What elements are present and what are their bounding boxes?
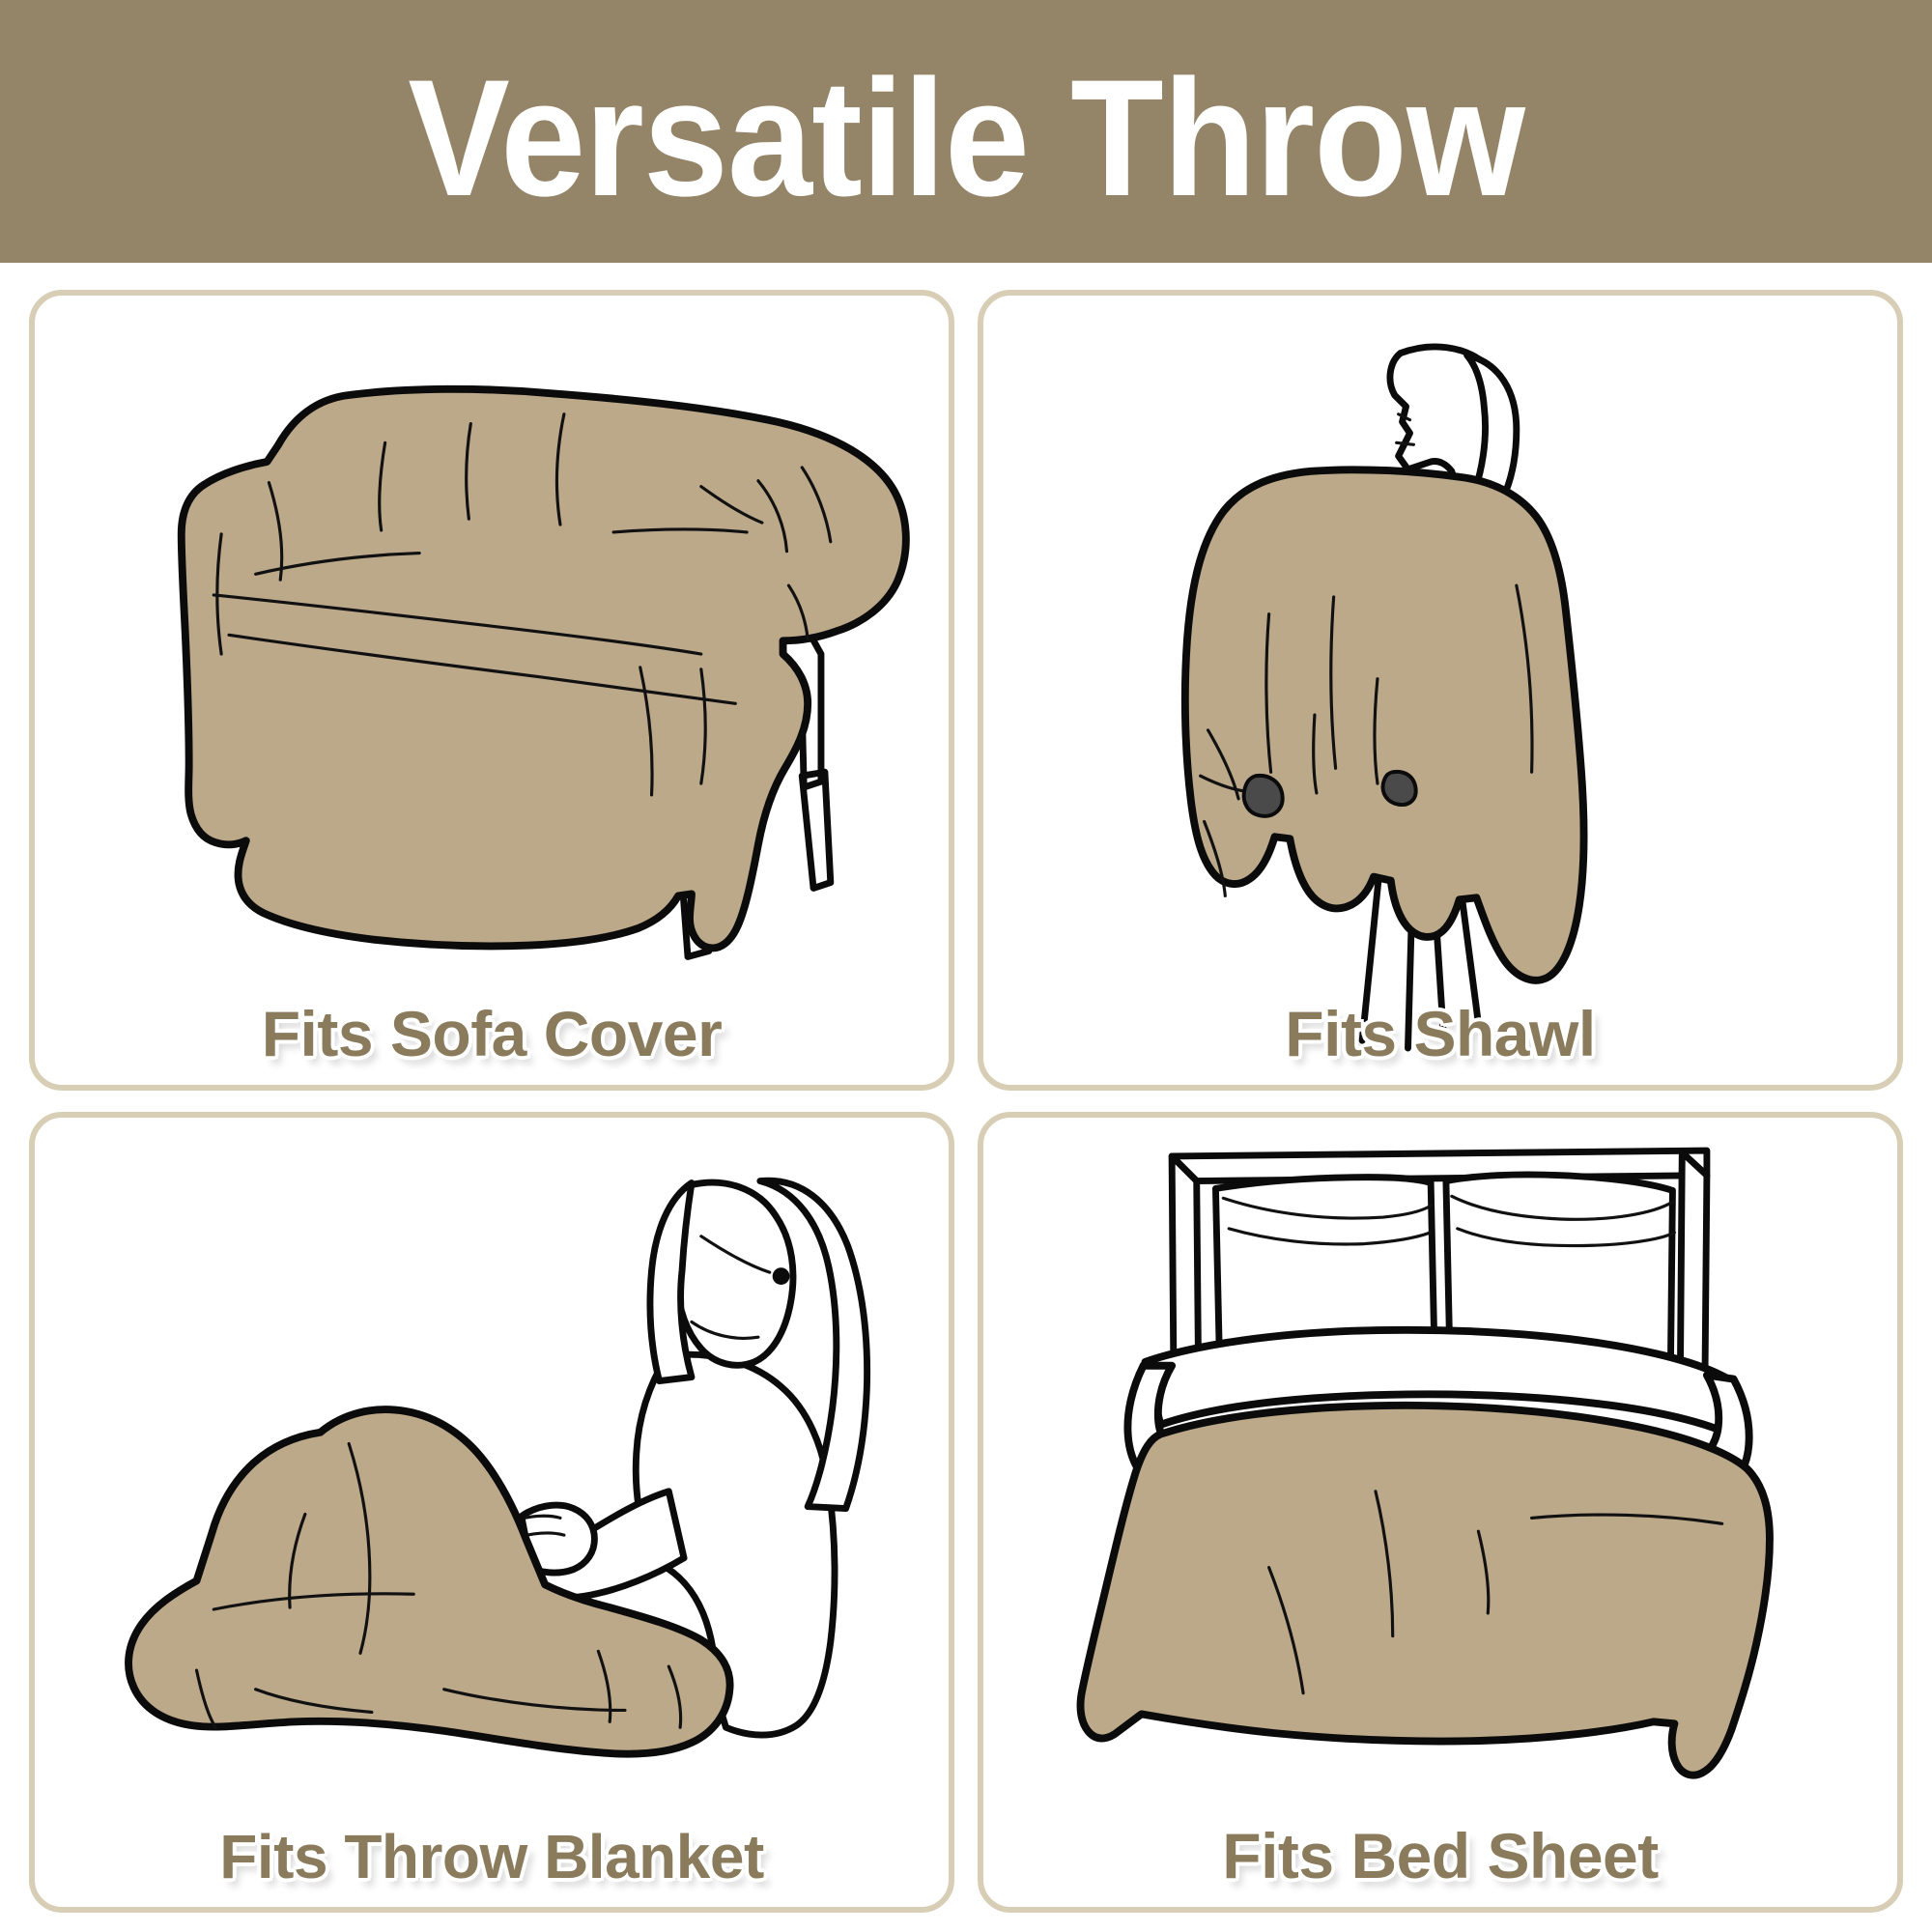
card-fits-sofa-cover[interactable]: Fits Sofa Cover bbox=[29, 290, 954, 1091]
bed-sheet-illustration bbox=[983, 1118, 1897, 1907]
sofa-cover-illustration bbox=[35, 296, 949, 1085]
card-fits-bed-sheet[interactable]: Fits Bed Sheet bbox=[978, 1112, 1903, 1913]
card-label-sofa-cover: Fits Sofa Cover bbox=[35, 1001, 949, 1067]
throw-blanket-illustration bbox=[35, 1118, 949, 1907]
card-fits-shawl[interactable]: Fits Shawl bbox=[978, 290, 1903, 1091]
header-banner: Versatile Throw bbox=[0, 0, 1932, 263]
card-label-shawl: Fits Shawl bbox=[983, 1001, 1897, 1067]
infographic-page: Versatile Throw bbox=[0, 0, 1932, 1932]
card-label-bed-sheet: Fits Bed Sheet bbox=[983, 1823, 1897, 1889]
shawl-illustration bbox=[983, 296, 1897, 1085]
card-fits-throw-blanket[interactable]: Fits Throw Blanket bbox=[29, 1112, 954, 1913]
feature-card-grid: Fits Sofa Cover bbox=[29, 290, 1903, 1913]
page-title: Versatile Throw bbox=[408, 55, 1524, 221]
card-label-throw-blanket: Fits Throw Blanket bbox=[35, 1825, 949, 1889]
